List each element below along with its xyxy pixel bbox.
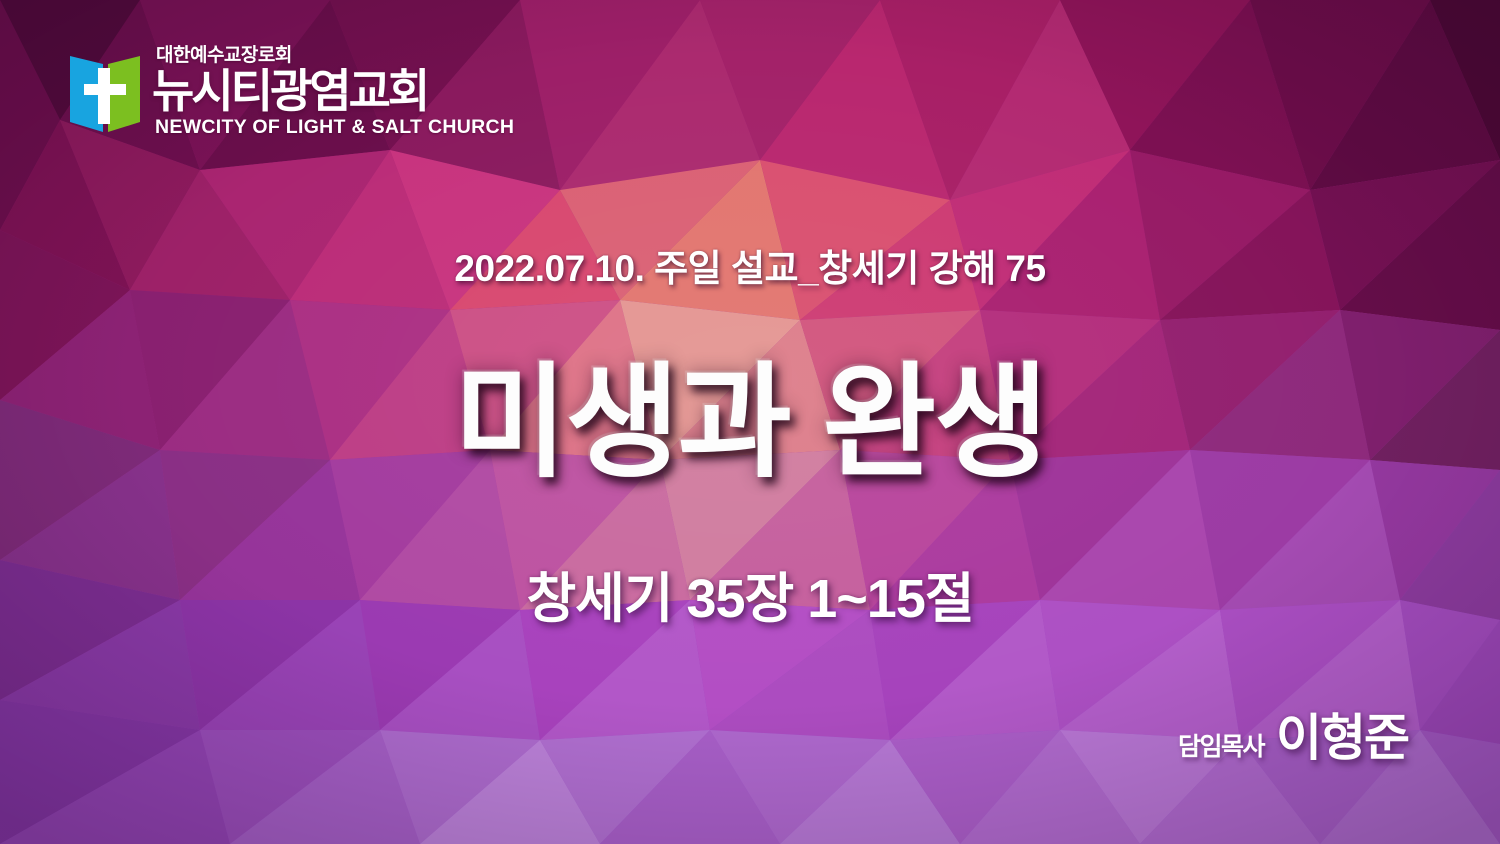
sermon-title-slide: 대한예수교장로회 뉴시티광염교회 NEWCITY OF LIGHT & SALT…: [0, 0, 1500, 844]
denomination-label: 대한예수교장로회: [156, 46, 292, 67]
preacher-role: 담임목사: [1178, 727, 1264, 763]
preacher-credit: 담임목사 이형준: [1178, 698, 1408, 770]
church-logo: 대한예수교장로회 뉴시티광염교회 NEWCITY OF LIGHT & SALT…: [68, 42, 514, 138]
sermon-series-line: 2022.07.10. 주일 설교_창세기 강해 75: [0, 238, 1500, 292]
church-name-korean: 뉴시티광염교회: [152, 68, 427, 114]
sermon-title: 미생과 완생: [0, 358, 1500, 488]
church-name-english: NEWCITY OF LIGHT & SALT CHURCH: [155, 117, 514, 138]
open-book-cross-icon: [68, 42, 142, 134]
scripture-reference: 창세기 35장 1~15절: [0, 554, 1500, 633]
preacher-name: 이형준: [1276, 698, 1408, 770]
